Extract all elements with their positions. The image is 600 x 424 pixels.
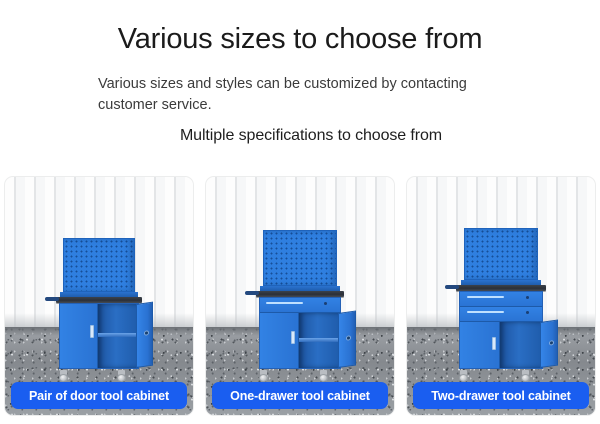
drawer-1: [460, 292, 542, 307]
drawer-handle: [266, 302, 303, 304]
caster-wheel: [459, 370, 468, 382]
caster-tire: [319, 374, 328, 382]
door-handle: [492, 337, 496, 350]
lower-compartment: [460, 322, 542, 368]
interior-shelf: [299, 338, 340, 342]
tool-cabinet-illustration: [56, 238, 142, 382]
closed-door-left: [260, 313, 299, 368]
cabinet-body: [459, 291, 543, 369]
pegboard-panel: [464, 228, 538, 280]
open-door-right: [338, 310, 356, 367]
closed-door-left: [60, 304, 98, 368]
product-caption: Two-drawer tool cabinet: [413, 382, 589, 409]
lower-compartment: [60, 304, 138, 368]
pegboard-panel: [63, 238, 135, 292]
push-handle: [245, 291, 259, 295]
door-lock-icon: [549, 340, 554, 346]
door-handle: [90, 325, 94, 338]
product-caption: Pair of door tool cabinet: [11, 382, 187, 409]
product-caption: One-drawer tool cabinet: [212, 382, 388, 409]
tool-cabinet-illustration: [456, 228, 546, 382]
drawer-handle: [467, 296, 505, 298]
open-door-right: [136, 301, 153, 367]
drawer-lock-icon: [526, 296, 529, 299]
open-door-right: [540, 319, 558, 368]
drawer-lock-icon: [526, 311, 529, 314]
drawer-handle: [467, 311, 505, 313]
door-lock-icon: [347, 335, 352, 341]
cabinet-body: [259, 297, 341, 369]
door-handle: [291, 331, 295, 344]
push-handle: [445, 285, 459, 289]
pegboard-panel: [263, 230, 337, 286]
product-photo-pair-of-door: [5, 177, 193, 415]
caster-tire: [521, 374, 530, 382]
caster-tire: [459, 374, 468, 382]
drawer-lock-icon: [324, 302, 327, 305]
product-photo-two-drawer: [407, 177, 595, 415]
cabinet-interior: [98, 304, 138, 368]
caster-wheel: [319, 370, 328, 382]
caster-tire: [59, 374, 68, 382]
push-handle: [45, 297, 59, 301]
drawer-2: [460, 307, 542, 322]
header-block: Various sizes to choose from Various siz…: [0, 0, 600, 145]
product-card-one-drawer[interactable]: One-drawer tool cabinet: [205, 176, 395, 416]
closed-door-left: [460, 322, 500, 368]
tool-cabinet-illustration: [256, 230, 344, 382]
drawer-1: [260, 298, 340, 313]
caster-tire: [117, 374, 126, 382]
interior-shelf: [98, 333, 138, 337]
cabinet-interior: [299, 313, 340, 368]
caster-row: [256, 369, 338, 382]
door-lock-icon: [144, 330, 149, 336]
product-photo-one-drawer: [206, 177, 394, 415]
caster-wheel: [117, 370, 126, 382]
page-title: Various sizes to choose from: [0, 22, 600, 56]
caster-wheel: [59, 370, 68, 382]
caster-tire: [259, 374, 268, 382]
product-panel-row: Pair of door tool cabinet: [0, 176, 600, 420]
header-subtitle: Various sizes and styles can be customiz…: [98, 74, 488, 115]
cabinet-body: [59, 303, 139, 369]
cabinet-interior: [500, 322, 542, 368]
caster-wheel: [521, 370, 530, 382]
header-tagline: Multiple specifications to choose from: [22, 127, 600, 145]
caster-row: [456, 369, 540, 382]
caster-wheel: [259, 370, 268, 382]
product-card-pair-of-door[interactable]: Pair of door tool cabinet: [4, 176, 194, 416]
lower-compartment: [260, 313, 340, 368]
caster-row: [56, 369, 136, 382]
product-card-two-drawer[interactable]: Two-drawer tool cabinet: [406, 176, 596, 416]
